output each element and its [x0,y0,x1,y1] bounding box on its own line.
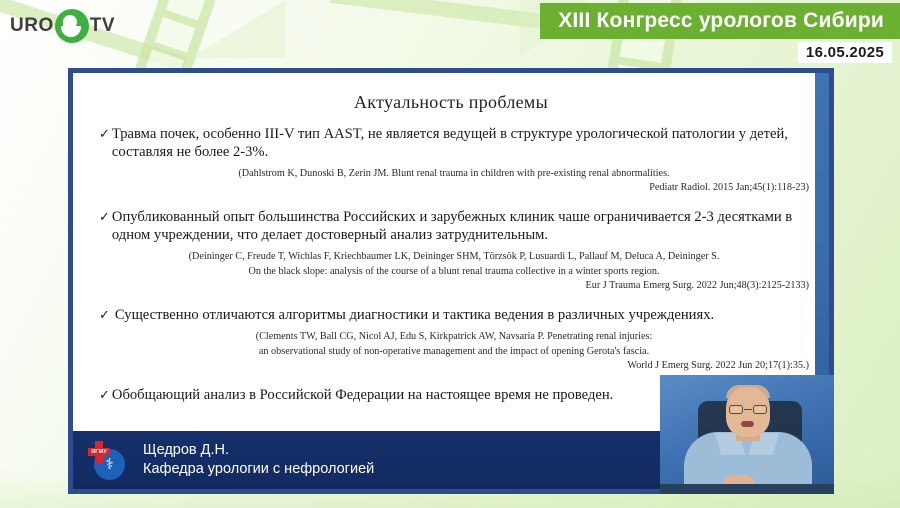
logo-caption: ЯГМУ [88,448,110,456]
slide-bullet-list: ✓ Травма почек, особенно III-V тип AAST,… [73,126,829,405]
citation-block: (Clements TW, Ball CG, Nicol AJ, Edu S, … [99,330,815,374]
date-badge: 16.05.2025 [798,42,892,63]
citation-line: (Dahlstrom K, Dunoski B, Zerin JM. Blunt… [99,167,809,182]
medical-cross-bowl-of-hygieia-icon: ⚕ ЯГМУ [87,439,129,481]
presenter-video-feed[interactable] [660,375,834,494]
checkmark-icon: ✓ [99,126,110,143]
bullet-item: ✓ Существенно отличаются алгоритмы диагн… [99,307,815,325]
desk-edge [660,484,834,494]
checkmark-icon: ✓ [99,209,110,226]
citation-line: World J Emerg Surg. 2022 Jun 20;17(1):35… [99,359,809,374]
red-cross-icon: ЯГМУ [88,441,110,463]
bullet-text: Травма почек, особенно III-V тип AAST, н… [112,126,815,162]
citation-line: On the black slope: analysis of the cour… [99,265,809,280]
logo-text-tv: TV [90,15,115,37]
bullet-item: ✓ Опубликованный опыт большинства Россий… [99,209,815,245]
slide-title: Актуальность проблемы [73,92,829,113]
citation-line: Pediatr Radiol. 2015 Jan;45(1):118-23) [99,181,809,196]
bullet-text: Существенно отличаются алгоритмы диагнос… [115,307,815,325]
urotv-logo: URO TV [10,8,108,44]
citation-line: an observational study of non-operative … [99,345,809,360]
congress-title-text: XIII Конгресс урологов Сибири [558,9,884,33]
citation-block: (Deininger C, Freude T, Wichlas F, Kriec… [99,250,815,294]
checkmark-icon: ✓ [99,307,110,324]
citation-block: (Dahlstrom K, Dunoski B, Zerin JM. Blunt… [99,167,815,197]
citation-line: (Clements TW, Ball CG, Nicol AJ, Edu S, … [99,330,809,345]
bullet-item: ✓ Травма почек, особенно III-V тип AAST,… [99,126,815,162]
urotv-leaf-icon [55,9,89,43]
date-text: 16.05.2025 [806,44,884,61]
speaker-department: Кафедра урологии с нефрологией [143,460,374,479]
bullet-text: Опубликованный опыт большинства Российск… [112,209,815,245]
checkmark-icon: ✓ [99,387,110,404]
glasses-icon [729,405,767,414]
citation-line: Eur J Trauma Emerg Surg. 2022 Jun;48(3):… [99,279,809,294]
logo-text-uro: URO [10,15,54,37]
presenter-mouth [741,421,754,427]
speaker-name: Щедров Д.Н. [143,441,374,460]
page-header: URO TV XIII Конгресс урологов Сибири 16.… [0,0,900,66]
citation-line: (Deininger C, Freude T, Wichlas F, Kriec… [99,250,809,265]
congress-title-banner: XIII Конгресс урологов Сибири [540,3,900,39]
speaker-info: Щедров Д.Н. Кафедра урологии с нефрологи… [143,441,374,479]
